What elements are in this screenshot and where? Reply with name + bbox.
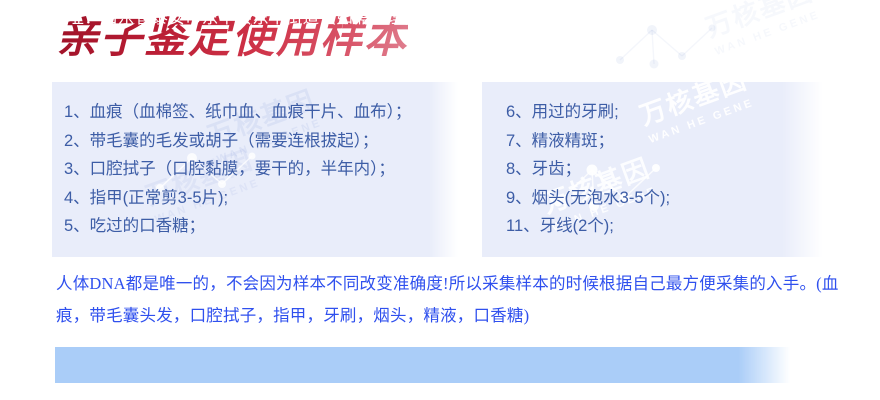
sample-list-left: 1、血痕（血棉签、纸巾血、血痕干片、血布）； 2、带毛囊的毛发或胡子（需要连根拔… [52,82,458,241]
list-item: 5、吃过的口香糖； [52,212,458,241]
list-item: 8、牙齿； [482,155,823,184]
sample-boxes-container: 万核基因 WAN HE GENE 万核基因 WAN HE GENE 1、血痕（血… [0,82,880,257]
sample-box-left: 万核基因 WAN HE GENE 万核基因 WAN HE GENE 1、血痕（血… [52,82,458,257]
list-item: 1、血痕（血棉签、纸巾血、血痕干片、血布）； [52,98,458,127]
list-item: 2、带毛囊的毛发或胡子（需要连根拔起）； [52,127,458,156]
address-bar-text: 办理地址：山东省泰安市东平县东平街道（如需办理，需提前预约） [0,0,735,36]
list-item: 9、烟头(无泡水3-5个); [482,184,823,213]
sample-list-right: 6、用过的牙刷; 7、精液精斑； 8、牙齿； 9、烟头(无泡水3-5个); 11… [482,82,823,241]
list-item: 3、口腔拭子（口腔黏膜，要干的，半年内）； [52,155,458,184]
list-item: 7、精液精斑； [482,127,823,156]
description-paragraph: 人体DNA都是唯一的，不会因为样本不同改变准确度!所以采集样本的时候根据自己最方… [56,268,846,332]
list-item: 11、牙线(2个); [482,212,823,241]
address-bar [55,347,790,383]
sample-box-right: 万核基因 WAN HE GENE 万核基因 WAN HE GENE 6、用 [482,82,823,257]
list-item: 6、用过的牙刷; [482,98,823,127]
list-item: 4、指甲(正常剪3-5片); [52,184,458,213]
